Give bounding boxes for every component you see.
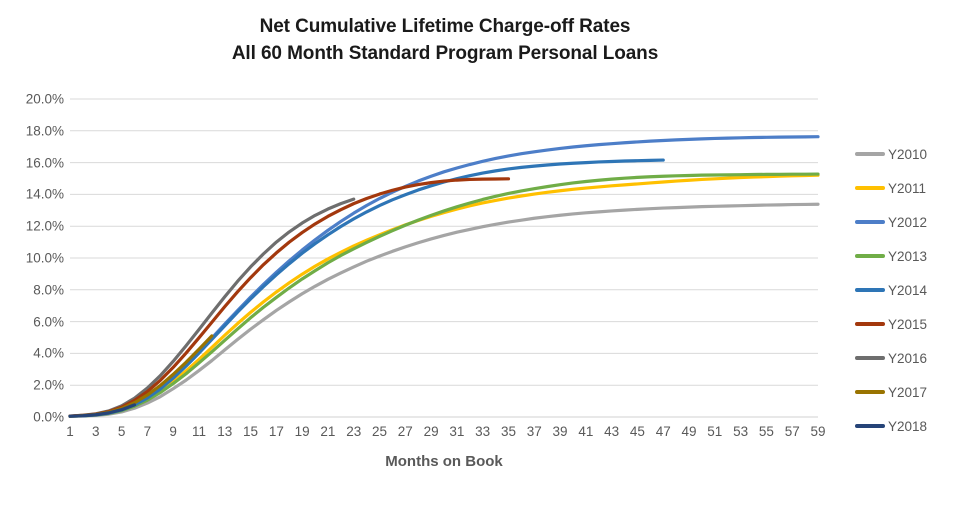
x-axis-tick-label: 41 bbox=[578, 424, 593, 439]
legend-label: Y2014 bbox=[888, 283, 927, 298]
x-axis-tick-label: 29 bbox=[424, 424, 439, 439]
chart-title-line2: All 60 Month Standard Program Personal L… bbox=[0, 41, 890, 68]
chart-title-line1: Net Cumulative Lifetime Charge-off Rates bbox=[260, 16, 631, 37]
y-axis-tick-label: 18.0% bbox=[6, 123, 64, 138]
legend-swatch-icon bbox=[855, 390, 885, 394]
x-axis-tick-label: 13 bbox=[217, 424, 232, 439]
legend-label: Y2018 bbox=[888, 419, 927, 434]
legend-item-y2013[interactable]: Y2013 bbox=[855, 239, 960, 273]
x-axis-tick-label: 21 bbox=[320, 424, 335, 439]
x-axis-tick-label: 57 bbox=[785, 424, 800, 439]
x-axis-tick-labels: 1357911131517192123252729313335373941434… bbox=[70, 424, 818, 444]
x-axis-tick-label: 17 bbox=[269, 424, 284, 439]
x-axis-tick-label: 43 bbox=[604, 424, 619, 439]
legend-label: Y2017 bbox=[888, 385, 927, 400]
x-axis-tick-label: 3 bbox=[92, 424, 100, 439]
x-axis-tick-label: 55 bbox=[759, 424, 774, 439]
y-axis-tick-label: 8.0% bbox=[6, 282, 64, 297]
x-axis-tick-label: 59 bbox=[810, 424, 825, 439]
legend-label: Y2011 bbox=[888, 181, 926, 196]
y-axis-tick-label: 4.0% bbox=[6, 346, 64, 361]
legend-swatch-icon bbox=[855, 220, 885, 224]
legend-swatch-icon bbox=[855, 186, 885, 190]
legend-item-y2018[interactable]: Y2018 bbox=[855, 409, 960, 443]
x-axis-tick-label: 47 bbox=[656, 424, 671, 439]
x-axis-tick-label: 51 bbox=[707, 424, 722, 439]
x-axis-tick-label: 23 bbox=[346, 424, 361, 439]
legend-swatch-icon bbox=[855, 254, 885, 258]
series-line-y2010 bbox=[70, 204, 818, 416]
x-axis-title: Months on Book bbox=[70, 453, 818, 470]
x-axis-tick-label: 5 bbox=[118, 424, 126, 439]
series-line-y2016 bbox=[70, 199, 354, 416]
y-axis-tick-labels: 0.0%2.0%4.0%6.0%8.0%10.0%12.0%14.0%16.0%… bbox=[0, 99, 64, 417]
legend-item-y2015[interactable]: Y2015 bbox=[855, 307, 960, 341]
x-axis-tick-label: 25 bbox=[372, 424, 387, 439]
x-axis-tick-label: 31 bbox=[449, 424, 464, 439]
y-axis-tick-label: 10.0% bbox=[6, 251, 64, 266]
x-axis-tick-label: 15 bbox=[243, 424, 258, 439]
legend-label: Y2016 bbox=[888, 351, 927, 366]
x-axis-tick-label: 27 bbox=[398, 424, 413, 439]
legend-item-y2011[interactable]: Y2011 bbox=[855, 171, 960, 205]
legend-item-y2016[interactable]: Y2016 bbox=[855, 341, 960, 375]
legend-label: Y2012 bbox=[888, 215, 927, 230]
y-axis-tick-label: 6.0% bbox=[6, 314, 64, 329]
legend-label: Y2015 bbox=[888, 317, 927, 332]
x-axis-tick-label: 1 bbox=[66, 424, 74, 439]
y-axis-tick-label: 16.0% bbox=[6, 155, 64, 170]
legend-item-y2012[interactable]: Y2012 bbox=[855, 205, 960, 239]
chart-title: Net Cumulative Lifetime Charge-off Rates… bbox=[0, 14, 890, 68]
x-axis-tick-label: 49 bbox=[682, 424, 697, 439]
x-axis-tick-label: 53 bbox=[733, 424, 748, 439]
x-axis-tick-label: 11 bbox=[192, 424, 206, 439]
x-axis-tick-label: 37 bbox=[527, 424, 542, 439]
plot-svg bbox=[70, 99, 818, 417]
x-axis-tick-label: 39 bbox=[553, 424, 568, 439]
chart-container: Net Cumulative Lifetime Charge-off Rates… bbox=[0, 0, 967, 508]
x-axis-tick-label: 33 bbox=[475, 424, 490, 439]
x-axis-tick-label: 9 bbox=[169, 424, 177, 439]
y-axis-tick-label: 2.0% bbox=[6, 378, 64, 393]
legend-swatch-icon bbox=[855, 356, 885, 360]
y-axis-tick-label: 14.0% bbox=[6, 187, 64, 202]
x-axis-tick-label: 7 bbox=[144, 424, 152, 439]
x-axis-tick-label: 45 bbox=[630, 424, 645, 439]
series-line-y2013 bbox=[70, 174, 818, 416]
legend-item-y2017[interactable]: Y2017 bbox=[855, 375, 960, 409]
legend-item-y2010[interactable]: Y2010 bbox=[855, 137, 960, 171]
legend-label: Y2010 bbox=[888, 147, 927, 162]
legend-item-y2014[interactable]: Y2014 bbox=[855, 273, 960, 307]
y-axis-tick-label: 12.0% bbox=[6, 219, 64, 234]
chart-legend: Y2010Y2011Y2012Y2013Y2014Y2015Y2016Y2017… bbox=[855, 137, 960, 443]
legend-swatch-icon bbox=[855, 424, 885, 428]
legend-swatch-icon bbox=[855, 152, 885, 156]
series-lines bbox=[70, 137, 818, 417]
x-axis-tick-label: 19 bbox=[295, 424, 310, 439]
y-axis-tick-label: 0.0% bbox=[6, 410, 64, 425]
legend-label: Y2013 bbox=[888, 249, 927, 264]
x-axis-tick-label: 35 bbox=[501, 424, 516, 439]
legend-swatch-icon bbox=[855, 322, 885, 326]
y-axis-tick-label: 20.0% bbox=[6, 92, 64, 107]
plot-area bbox=[70, 99, 818, 417]
legend-swatch-icon bbox=[855, 288, 885, 292]
